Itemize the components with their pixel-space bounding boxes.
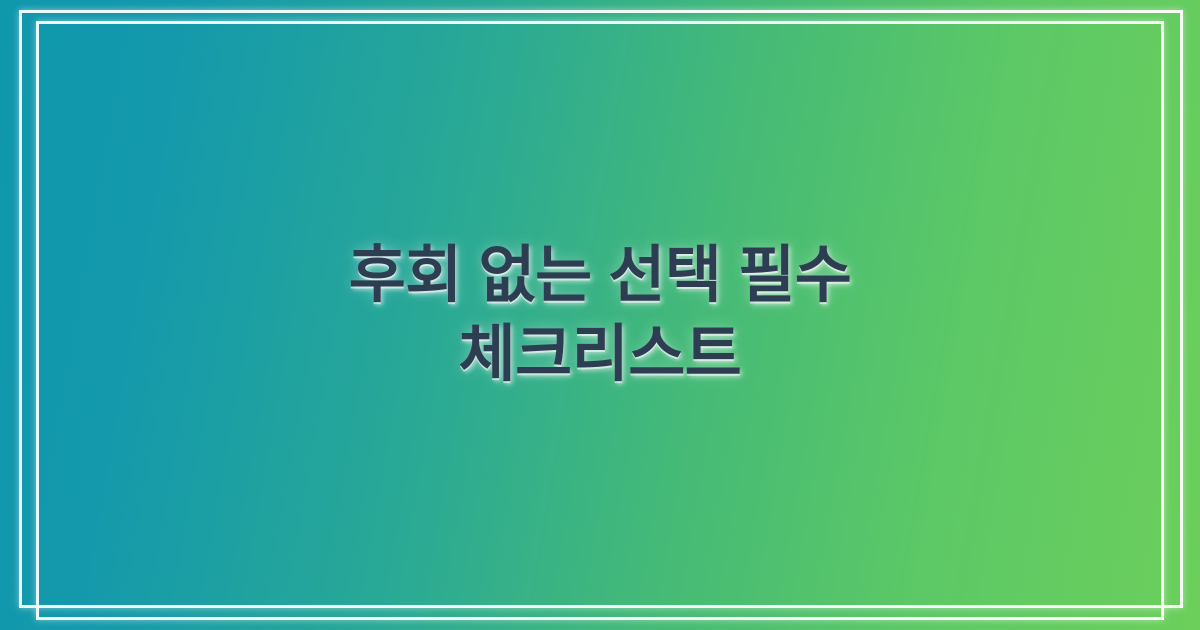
- page-title: 후회 없는 선택 필수 체크리스트: [349, 236, 852, 395]
- thumbnail-canvas: 후회 없는 선택 필수 체크리스트: [0, 0, 1200, 630]
- title-block: 후회 없는 선택 필수 체크리스트: [0, 0, 1200, 630]
